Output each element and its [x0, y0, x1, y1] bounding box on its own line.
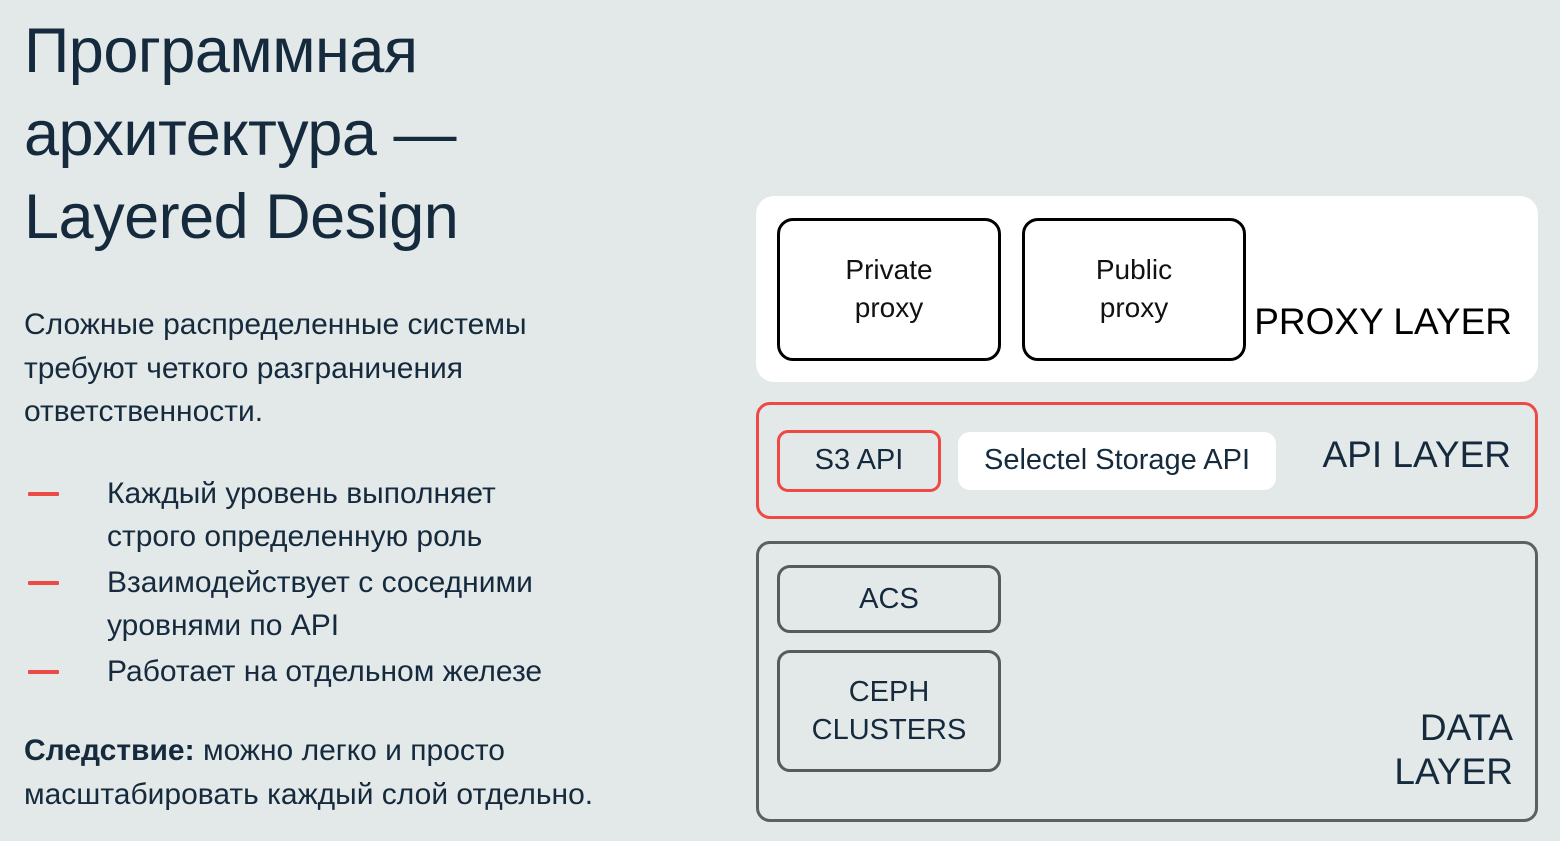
left-content-column: Программная архитектура — Layered Design…: [24, 10, 724, 816]
list-item: Взаимодействует с соседними уровнями по …: [24, 561, 724, 648]
node-s3-api: S3 API: [777, 430, 941, 492]
slide-root: Программная архитектура — Layered Design…: [0, 0, 1560, 841]
list-item: Работает на отдельном железе: [24, 650, 724, 694]
node-selectel-storage-api: Selectel Storage API: [958, 432, 1276, 490]
list-item: Каждый уровень выполняет строго определе…: [24, 472, 724, 559]
page-title: Программная архитектура — Layered Design: [24, 10, 724, 259]
node-public-proxy: Public proxy: [1022, 218, 1246, 361]
bullet-list: Каждый уровень выполняет строго определе…: [24, 472, 724, 694]
bullet-text: Каждый уровень выполняет строго определе…: [107, 472, 496, 559]
layer-data: ACS CEPH CLUSTERS DATA LAYER: [756, 541, 1538, 822]
layer-api: S3 API Selectel Storage API API LAYER: [756, 402, 1538, 519]
layer-data-title: DATA LAYER: [1394, 706, 1513, 793]
dash-bullet-icon: [28, 492, 59, 496]
node-acs-label: ACS: [859, 583, 919, 616]
node-private-proxy-label: Private proxy: [845, 251, 932, 327]
conclusion-lead: Следствие:: [24, 734, 195, 767]
node-acs: ACS: [777, 565, 1001, 633]
layer-proxy: Private proxy Public proxy PROXY LAYER: [756, 196, 1538, 382]
node-ceph-clusters: CEPH CLUSTERS: [777, 650, 1001, 772]
bullet-text: Работает на отдельном железе: [107, 650, 542, 694]
node-ceph-clusters-label: CEPH CLUSTERS: [812, 673, 967, 750]
layer-proxy-title: PROXY LAYER: [1254, 300, 1512, 344]
node-s3-api-label: S3 API: [815, 444, 904, 477]
layer-api-title: API LAYER: [1322, 433, 1511, 477]
node-private-proxy: Private proxy: [777, 218, 1001, 361]
architecture-diagram: Private proxy Public proxy PROXY LAYER S…: [756, 196, 1538, 822]
dash-bullet-icon: [28, 670, 59, 674]
intro-paragraph: Сложные распределенные системы требуют ч…: [24, 303, 664, 434]
dash-bullet-icon: [28, 581, 59, 585]
data-layer-node-column: ACS CEPH CLUSTERS: [777, 565, 1001, 772]
bullet-text: Взаимодействует с соседними уровнями по …: [107, 561, 533, 648]
conclusion-paragraph: Следствие: можно легко и просто масштаби…: [24, 729, 664, 816]
node-public-proxy-label: Public proxy: [1096, 251, 1172, 327]
node-selectel-storage-api-label: Selectel Storage API: [984, 444, 1250, 477]
